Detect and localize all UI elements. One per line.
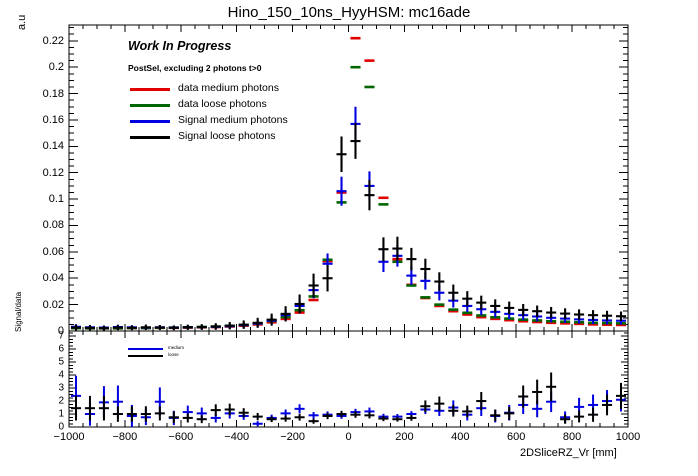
- plot-svg: [0, 0, 698, 476]
